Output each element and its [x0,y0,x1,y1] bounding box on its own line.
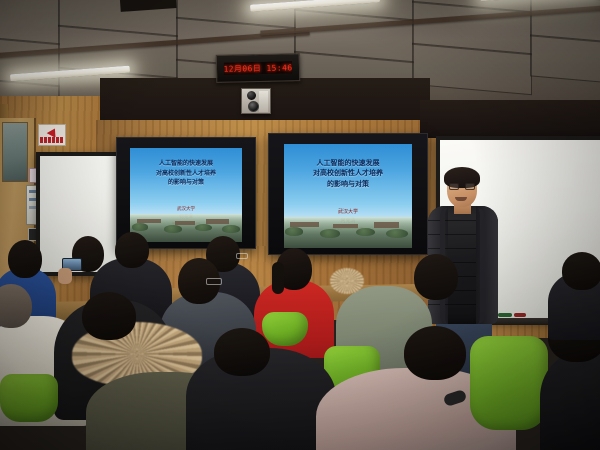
slide-org-left: 武汉大学 [130,206,242,212]
slide-title-line-2: 对高校创新性人才培养 [292,168,405,179]
led-clock-frame: 12月06日 15:46 [216,53,301,83]
slide-title-line-2: 对高校创新性人才培养 [137,170,236,179]
slide-org-right: 武汉大学 [284,208,412,215]
chair-back-5[interactable] [470,336,548,430]
display-panel-right: 人工智能的快速发展 对高校创新性人才培养 的影响与对策 武汉大学 何克清 hkq… [268,133,428,255]
student-glasses [236,253,248,259]
student-head [8,240,42,278]
camera-bracket [259,91,268,112]
slide-title-line-3: 的影响与对策 [292,179,405,190]
slide-title-right: 人工智能的快速发展 对高校创新性人才培养 的影响与对策 [292,158,405,191]
slide-title-line-1: 人工智能的快速发展 [137,160,236,169]
slide-title-left: 人工智能的快速发展 对高校创新性人才培养 的影响与对策 [137,160,236,188]
slide-campus-photo-right [284,217,412,248]
student-hand [58,268,72,284]
slide-title-line-3: 的影响与对策 [137,179,236,188]
wall-band-upper-right [420,100,600,138]
wall-camera [241,88,271,114]
student-head [214,328,270,376]
led-clock-screen: 12月06日 15:46 [224,61,292,74]
chair-back-2[interactable] [262,312,308,346]
student-head [404,326,466,380]
student-fur-collar [330,268,364,294]
student-body [540,352,600,450]
lecture-hall-photo: 12月06日 15:46 人工智能的快速发展 对高校创新性人才培养 的影响与对策… [0,0,600,450]
student-head [562,252,600,290]
marker-green[interactable] [498,313,512,317]
safety-sign [38,124,66,146]
sign-text-block [40,137,64,143]
student-hair-strand [272,262,284,294]
student-head [414,254,458,300]
student-glasses [206,278,222,285]
camera-lens [248,101,259,112]
slide-title-line-1: 人工智能的快速发展 [292,158,405,169]
student-head [82,292,136,340]
marker-red[interactable] [514,313,526,317]
door-window [2,122,28,182]
slide-right: 人工智能的快速发展 对高校创新性人才培养 的影响与对策 武汉大学 何克清 hkq… [284,144,412,248]
led-clock-text: 12月06日 15:46 [224,62,292,74]
speaker-glasses [449,183,475,190]
slide-left: 人工智能的快速发展 对高校创新性人才培养 的影响与对策 武汉大学 何克清 hkq… [130,148,242,242]
camera-lens-top [247,91,256,100]
chair-back-3[interactable] [0,374,58,422]
student-head [115,232,149,268]
